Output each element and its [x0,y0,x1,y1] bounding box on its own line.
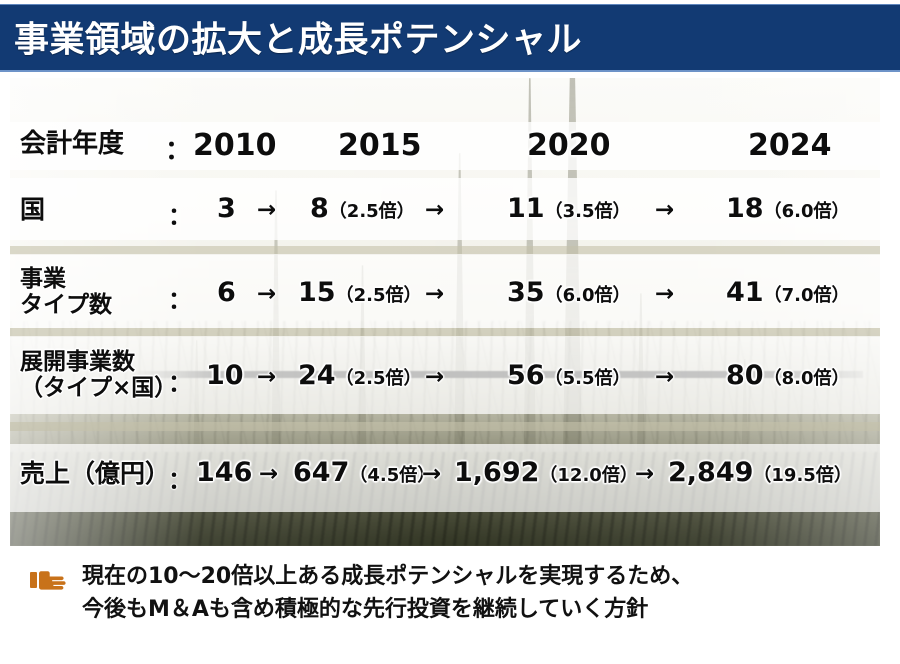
row-colon-uriage: ： [168,460,192,495]
arrow-3-kuni: → [655,197,674,223]
cell-uriage-2024: 2,849（19.5倍） [668,457,852,488]
cell-type-2015: 15（2.5倍） [298,277,421,308]
year-header-2024: 2024 [748,128,832,163]
header-colon: ： [165,130,191,167]
growth-table: 会計年度 ： 2010 2015 2020 2024 国 ： 3 → 8（2.5… [10,78,880,546]
cell-tenkai-2024: 80（8.0倍） [726,360,849,391]
cell-uriage-2010: 146 [196,457,252,488]
bottom-cut-text [0,650,900,664]
cell-kuni-2010: 3 [217,193,236,224]
arrow-2-type: → [425,281,444,307]
cell-uriage-2015: 647（4.5倍） [293,457,435,488]
arrow-1-kuni: → [257,197,276,223]
arrow-1-uriage: → [259,461,278,487]
row-colon-tenkai: ： [168,363,192,398]
table-header-label: 会計年度 [20,130,124,159]
row-label-kuni: 国 [20,196,45,224]
slide: 事業領域の拡大と成長ポテンシャル 会計年度 ： [0,0,900,664]
cell-kuni-2020: 11（3.5倍） [507,193,630,224]
row-colon-type: ： [168,280,192,315]
cell-type-2024: 41（7.0倍） [726,277,849,308]
cell-kuni-2015: 8（2.5倍） [310,193,415,224]
row-separator [10,422,880,431]
cell-type-2020: 35（6.0倍） [507,277,630,308]
row-label-tenkai: 展開事業数 （タイプ×国） [20,350,177,402]
row-label-uriage: 売上（億円） [20,460,170,488]
pointing-hand-icon [30,568,74,592]
row-colon-kuni: ： [168,196,192,231]
arrow-2-uriage: → [422,461,441,487]
arrow-3-type: → [655,281,674,307]
title-bar: 事業領域の拡大と成長ポテンシャル [0,4,900,72]
arrow-1-tenkai: → [257,364,276,390]
year-header-2010: 2010 [193,128,277,163]
arrow-3-tenkai: → [655,364,674,390]
cell-tenkai-2010: 10 [206,360,244,391]
row-label-type: 事業 タイプ数 [20,267,112,319]
footnote-text: 現在の10～20倍以上ある成長ポテンシャルを実現するため、 今後もM＆Aも含め積… [82,560,693,627]
arrow-2-tenkai: → [425,364,444,390]
year-header-2020: 2020 [527,128,611,163]
cell-tenkai-2020: 56（5.5倍） [507,360,630,391]
cell-uriage-2020: 1,692（12.0倍） [454,457,638,488]
page-title: 事業領域の拡大と成長ポテンシャル [14,11,582,62]
arrow-3-uriage: → [635,461,654,487]
arrow-2-kuni: → [425,197,444,223]
cell-tenkai-2015: 24（2.5倍） [298,360,421,391]
year-header-2015: 2015 [338,128,422,163]
cell-type-2010: 6 [217,277,236,308]
cell-kuni-2024: 18（6.0倍） [726,193,849,224]
arrow-1-type: → [257,281,276,307]
